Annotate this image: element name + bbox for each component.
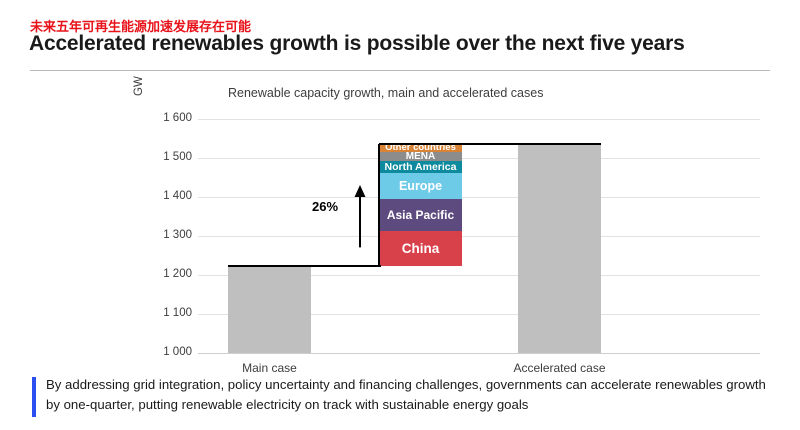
stack-segment-north-america: North America	[379, 161, 462, 173]
x-axis-tick-label: Accelerated case	[478, 361, 641, 375]
growth-percentage-label: 26%	[312, 199, 338, 214]
y-axis-unit-label: GW	[133, 76, 145, 96]
y-axis-tick-label: 1 400	[146, 190, 192, 202]
y-axis-tick-label: 1 000	[146, 346, 192, 358]
y-axis-tick-label: 1 100	[146, 307, 192, 319]
bar-accelerated-case	[518, 144, 601, 353]
gridline	[198, 236, 760, 237]
bar-main-case	[228, 266, 311, 353]
stack-segment-china: China	[379, 231, 462, 266]
stack-segment-europe: Europe	[379, 173, 462, 200]
stack-left-edge-connector	[378, 144, 380, 267]
slide-header: 未来五年可再生能源加速发展存在可能 Accelerated renewables…	[0, 0, 800, 72]
page-title: Accelerated renewables growth is possibl…	[29, 32, 685, 56]
y-axis-tick-label: 1 300	[146, 229, 192, 241]
chart-title: Renewable capacity growth, main and acce…	[228, 86, 543, 100]
gridline	[198, 119, 760, 120]
y-axis-tick-label: 1 200	[146, 268, 192, 280]
chart-container: Renewable capacity growth, main and acce…	[0, 72, 800, 367]
main-case-top-connector	[228, 265, 381, 267]
caption-text: By addressing grid integration, policy u…	[46, 375, 772, 415]
header-divider	[30, 70, 770, 71]
y-axis-tick-label: 1 500	[146, 151, 192, 163]
stack-segment-asia-pacific: Asia Pacific	[379, 199, 462, 231]
gridline	[198, 353, 760, 354]
stack-segment-other-countries: Other countries	[379, 144, 462, 152]
caption-accent-bar	[32, 377, 36, 417]
gridline	[198, 158, 760, 159]
y-axis-tick-label: 1 600	[146, 112, 192, 124]
growth-up-arrow-icon	[352, 185, 368, 247]
stack-segment-mena: MENA	[379, 152, 462, 161]
accelerated-case-top-connector	[379, 143, 601, 145]
gridline	[198, 197, 760, 198]
footer-caption-block: By addressing grid integration, policy u…	[32, 375, 772, 421]
x-axis-tick-label: Main case	[188, 361, 351, 375]
